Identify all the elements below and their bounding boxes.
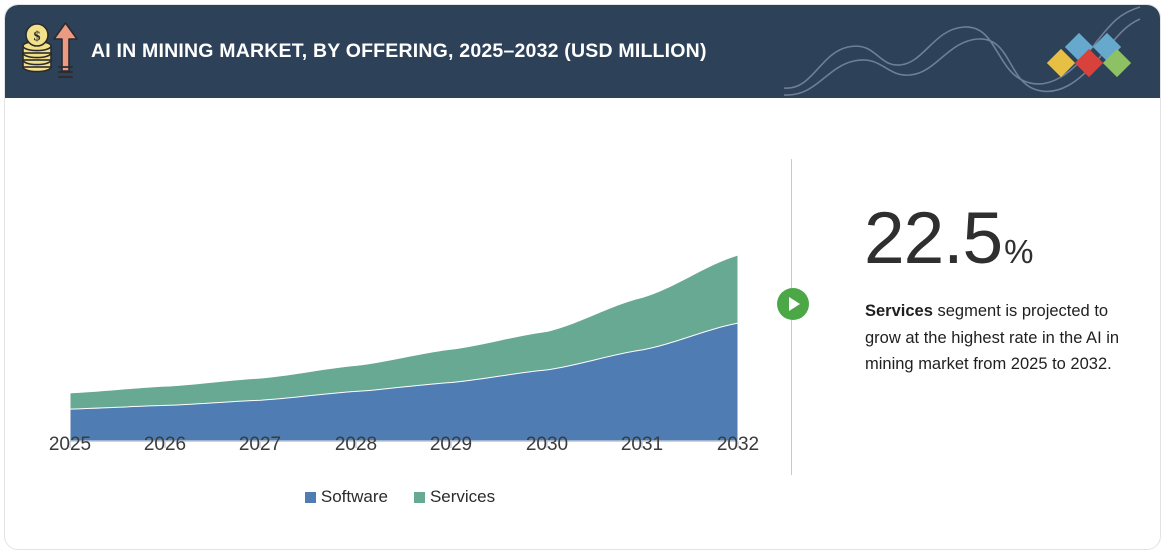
x-tick-2032: 2032 (703, 434, 773, 456)
legend-label-software: Software (321, 487, 388, 507)
diamond-logo-icon (1043, 23, 1153, 81)
play-triangle-icon (789, 297, 800, 311)
x-tick-2029: 2029 (416, 434, 486, 456)
stat-value-row: 22.5 % (864, 202, 1033, 275)
x-tick-2031: 2031 (607, 434, 677, 456)
stat-number: 22.5 (864, 202, 1002, 275)
x-axis-labels: 2025 2026 2027 2028 2029 2030 2031 2032 (5, 434, 795, 474)
legend-swatch-software-icon (305, 492, 316, 503)
chart-region: 2025 2026 2027 2028 2029 2030 2031 2032 … (5, 98, 795, 550)
play-circle-icon[interactable] (777, 288, 809, 320)
svg-text:$: $ (34, 30, 41, 45)
money-growth-icon: $ (17, 19, 79, 83)
legend-swatch-services-icon (414, 492, 425, 503)
x-tick-2030: 2030 (512, 434, 582, 456)
stat-percent-sign: % (1004, 235, 1033, 268)
legend-item-software[interactable]: Software (305, 487, 388, 507)
page-title: AI IN MINING MARKET, BY OFFERING, 2025–2… (91, 5, 707, 98)
x-tick-2025: 2025 (35, 434, 105, 456)
x-tick-2026: 2026 (130, 434, 200, 456)
infographic-card: $ AI IN MINING MARKET, BY OFFERING, 2025… (4, 4, 1161, 550)
legend-item-services[interactable]: Services (414, 487, 495, 507)
chart-legend: Software Services (5, 487, 795, 507)
x-tick-2028: 2028 (321, 434, 391, 456)
callout-panel: 22.5 % Services segment is projected to … (850, 98, 1161, 550)
legend-label-services: Services (430, 487, 495, 507)
x-tick-2027: 2027 (225, 434, 295, 456)
stacked-area-chart[interactable] (5, 98, 795, 458)
stat-description-highlight: Services (865, 302, 933, 320)
header-bar: $ AI IN MINING MARKET, BY OFFERING, 2025… (5, 5, 1161, 98)
stat-description: Services segment is projected to grow at… (865, 298, 1141, 378)
